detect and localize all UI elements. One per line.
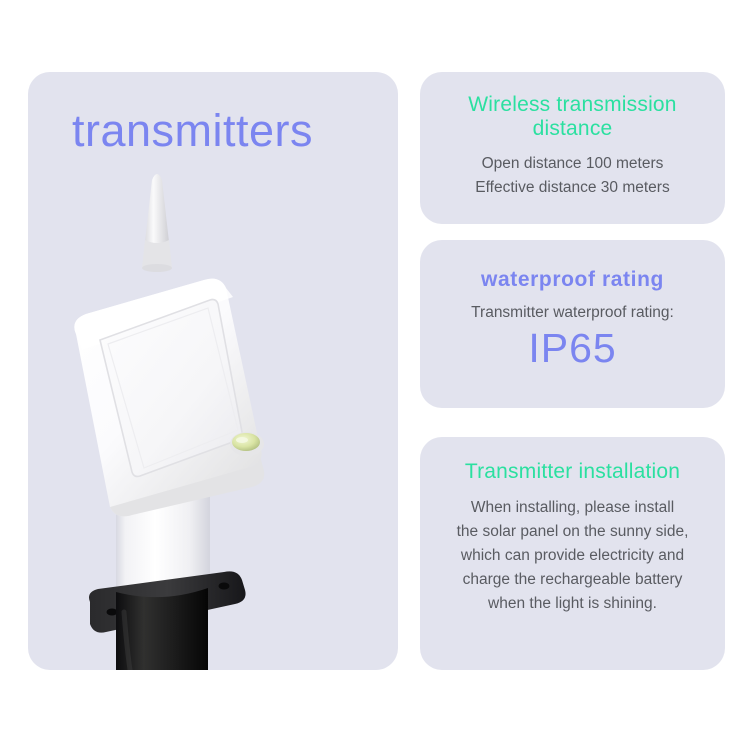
card-transmitter-installation: Transmitter installation When installing… (420, 437, 725, 670)
card-install-line-1: When installing, please install (457, 496, 689, 520)
card-install-line-3: which can provide electricity and (457, 544, 689, 568)
card-waterproof-rating: waterproof rating Transmitter waterproof… (420, 240, 725, 408)
card-wireless-line-1: Open distance 100 meters (475, 152, 669, 176)
device-illustration (28, 72, 398, 670)
infographic-page: transmitters 433MHZ wireless transmissio… (0, 0, 750, 750)
card-wireless-line-2: Effective distance 30 meters (475, 176, 669, 200)
product-card: transmitters 433MHZ wireless transmissio… (28, 72, 398, 670)
card-waterproof-body: Transmitter waterproof rating: IP65 (471, 301, 674, 370)
card-wireless-body: Open distance 100 meters Effective dista… (475, 152, 669, 200)
card-wireless-heading: Wireless transmission distance (436, 93, 709, 142)
waterproof-rating-value: IP65 (471, 327, 674, 370)
card-install-line-5: when the light is shining. (457, 592, 689, 616)
card-waterproof-heading: waterproof rating (481, 268, 664, 292)
page-title: transmitters (72, 108, 313, 153)
card-install-line-4: charge the rechargeable battery (457, 568, 689, 592)
card-install-heading: Transmitter installation (465, 460, 680, 484)
card-install-line-2: the solar panel on the sunny side, (457, 520, 689, 544)
card-waterproof-line-1: Transmitter waterproof rating: (471, 301, 674, 325)
card-wireless-transmission: Wireless transmission distance Open dist… (420, 72, 725, 224)
card-install-body: When installing, please install the sola… (457, 496, 689, 616)
